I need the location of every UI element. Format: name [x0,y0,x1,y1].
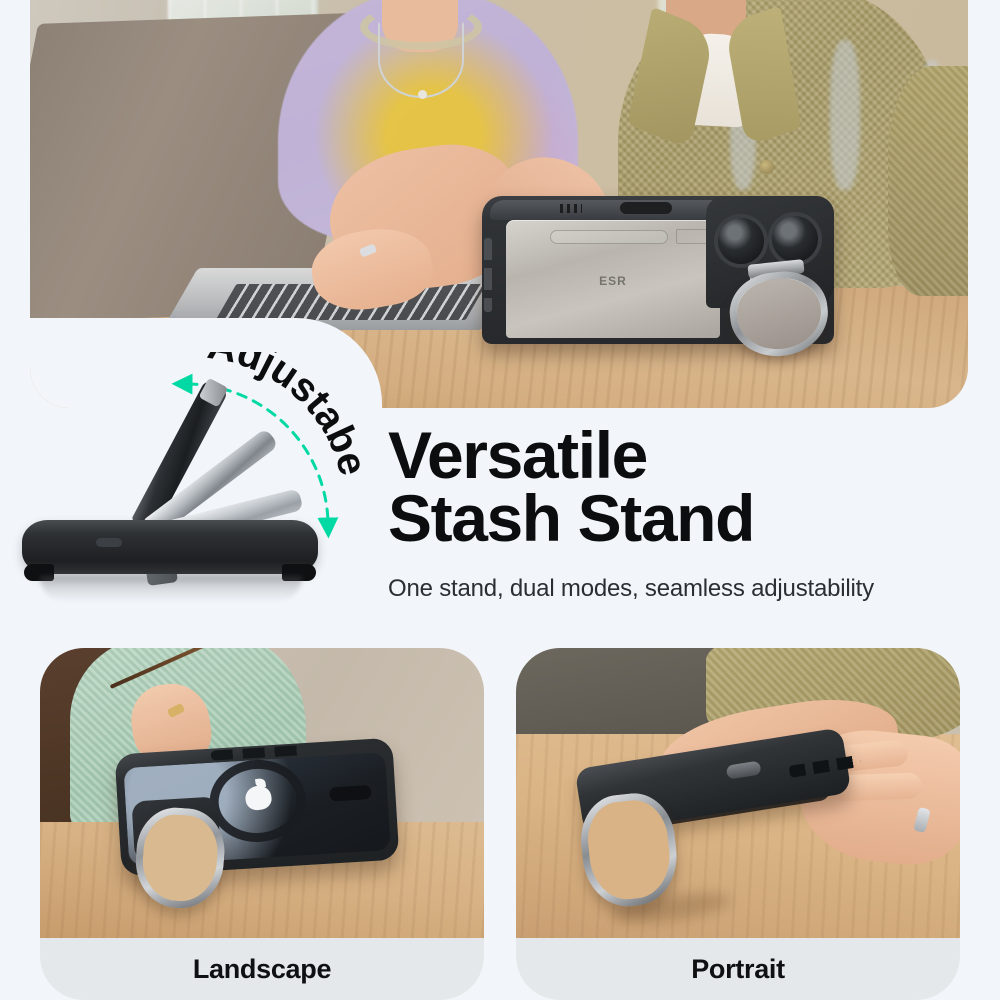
stand-base-body [22,520,318,574]
stand-side-view-illustration [14,498,326,590]
cardigan-button [760,160,774,174]
case-speaker-vents [560,204,582,213]
knit-pattern-streak [830,40,860,190]
camera-lens [772,216,818,262]
case-side-button [726,760,762,779]
esr-power-bank: ESR [506,220,720,338]
power-bank-label-badge [676,229,710,244]
card-portrait-photo [516,648,960,938]
card-portrait-caption: Portrait [516,938,960,1000]
card-landscape-photo [40,648,484,938]
stand-reflection [40,576,302,602]
mode-cards: Landscape Portrait [0,648,1000,1000]
case-accent-pill [329,785,372,802]
headline-line-2: Stash Stand [388,487,978,550]
hero-photo-panel: ESR [30,0,968,408]
esr-logo: ESR [599,274,627,288]
power-bank-label-strip [550,230,668,244]
kickstand-ring-interior [733,274,825,354]
page-subtitle: One stand, dual modes, seamless adjustab… [388,575,978,603]
necklace [378,22,464,98]
camera-lens [718,218,764,264]
card-portrait[interactable]: Portrait [516,648,960,1000]
case-top-button [620,202,672,214]
page-title: Versatile Stash Stand [388,424,978,551]
necklace-pendant [418,90,427,99]
headline-line-1: Versatile [388,424,978,487]
card-landscape-caption: Landscape [40,938,484,1000]
product-feature-page: ESR [0,0,1000,1000]
copy-block: Versatile Stash Stand One stand, dual mo… [388,424,978,603]
case-side-buttons [484,238,492,312]
stand-side-button [96,538,122,547]
person-man-arm [888,66,968,296]
card-landscape[interactable]: Landscape [40,648,484,1000]
